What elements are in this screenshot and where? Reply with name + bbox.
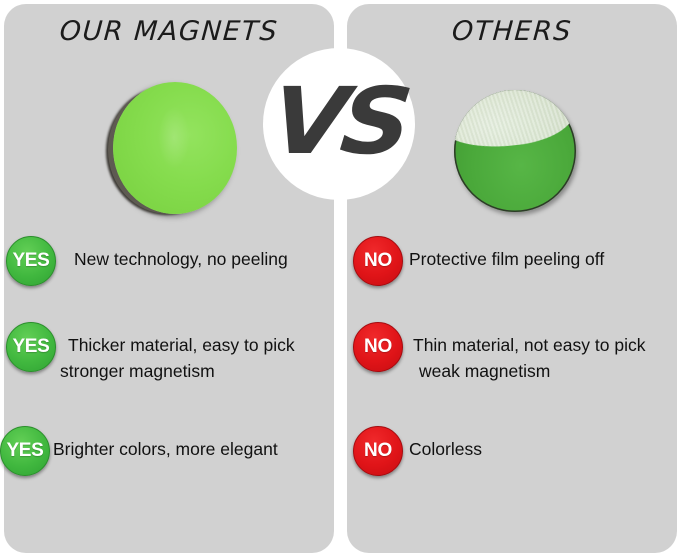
feature-text: Thin material, not easy to pick weak mag… xyxy=(413,322,645,384)
vs-badge: VS xyxy=(263,48,415,200)
list-item: NO Colorless xyxy=(347,426,679,476)
feature-line-1: New technology, no peeling xyxy=(74,249,288,269)
feature-line-1: Brighter colors, more elegant xyxy=(53,439,278,459)
feature-line-1: Thicker material, easy to pick xyxy=(68,335,295,355)
feature-text: New technology, no peeling xyxy=(74,236,288,272)
feature-line-1: Protective film peeling off xyxy=(409,249,604,269)
comparison-infographic: OUR MAGNETS YES New technology, no peeli… xyxy=(0,0,679,558)
feature-line-1: Thin material, not easy to pick xyxy=(413,335,645,355)
vs-label: VS xyxy=(268,76,411,168)
feature-text: Brighter colors, more elegant xyxy=(53,426,278,462)
feature-text: Colorless xyxy=(409,426,482,462)
feature-text: Protective film peeling off xyxy=(409,236,604,272)
peeling-film-icon xyxy=(454,90,576,153)
yes-badge: YES xyxy=(6,236,56,286)
no-badge: NO xyxy=(353,236,403,286)
peeling-magnet-disc-icon xyxy=(454,90,576,212)
right-panel-title: OTHERS xyxy=(346,16,678,47)
list-item: YES Brighter colors, more elegant xyxy=(4,426,336,476)
yes-badge: YES xyxy=(6,322,56,372)
feature-line-2: stronger magnetism xyxy=(60,358,295,384)
feature-line-2: weak magnetism xyxy=(419,358,645,384)
no-badge: NO xyxy=(353,322,403,372)
feature-line-1: Colorless xyxy=(409,439,482,459)
list-item: NO Protective film peeling off xyxy=(347,236,679,286)
no-badge: NO xyxy=(353,426,403,476)
list-item: YES Thicker material, easy to pick stron… xyxy=(4,322,336,384)
list-item: YES New technology, no peeling xyxy=(4,236,336,286)
left-panel-title: OUR MAGNETS xyxy=(3,16,335,47)
feature-text: Thicker material, easy to pick stronger … xyxy=(68,322,295,384)
yes-badge: YES xyxy=(0,426,50,476)
list-item: NO Thin material, not easy to pick weak … xyxy=(347,322,679,384)
green-magnet-disc-icon xyxy=(113,82,237,214)
